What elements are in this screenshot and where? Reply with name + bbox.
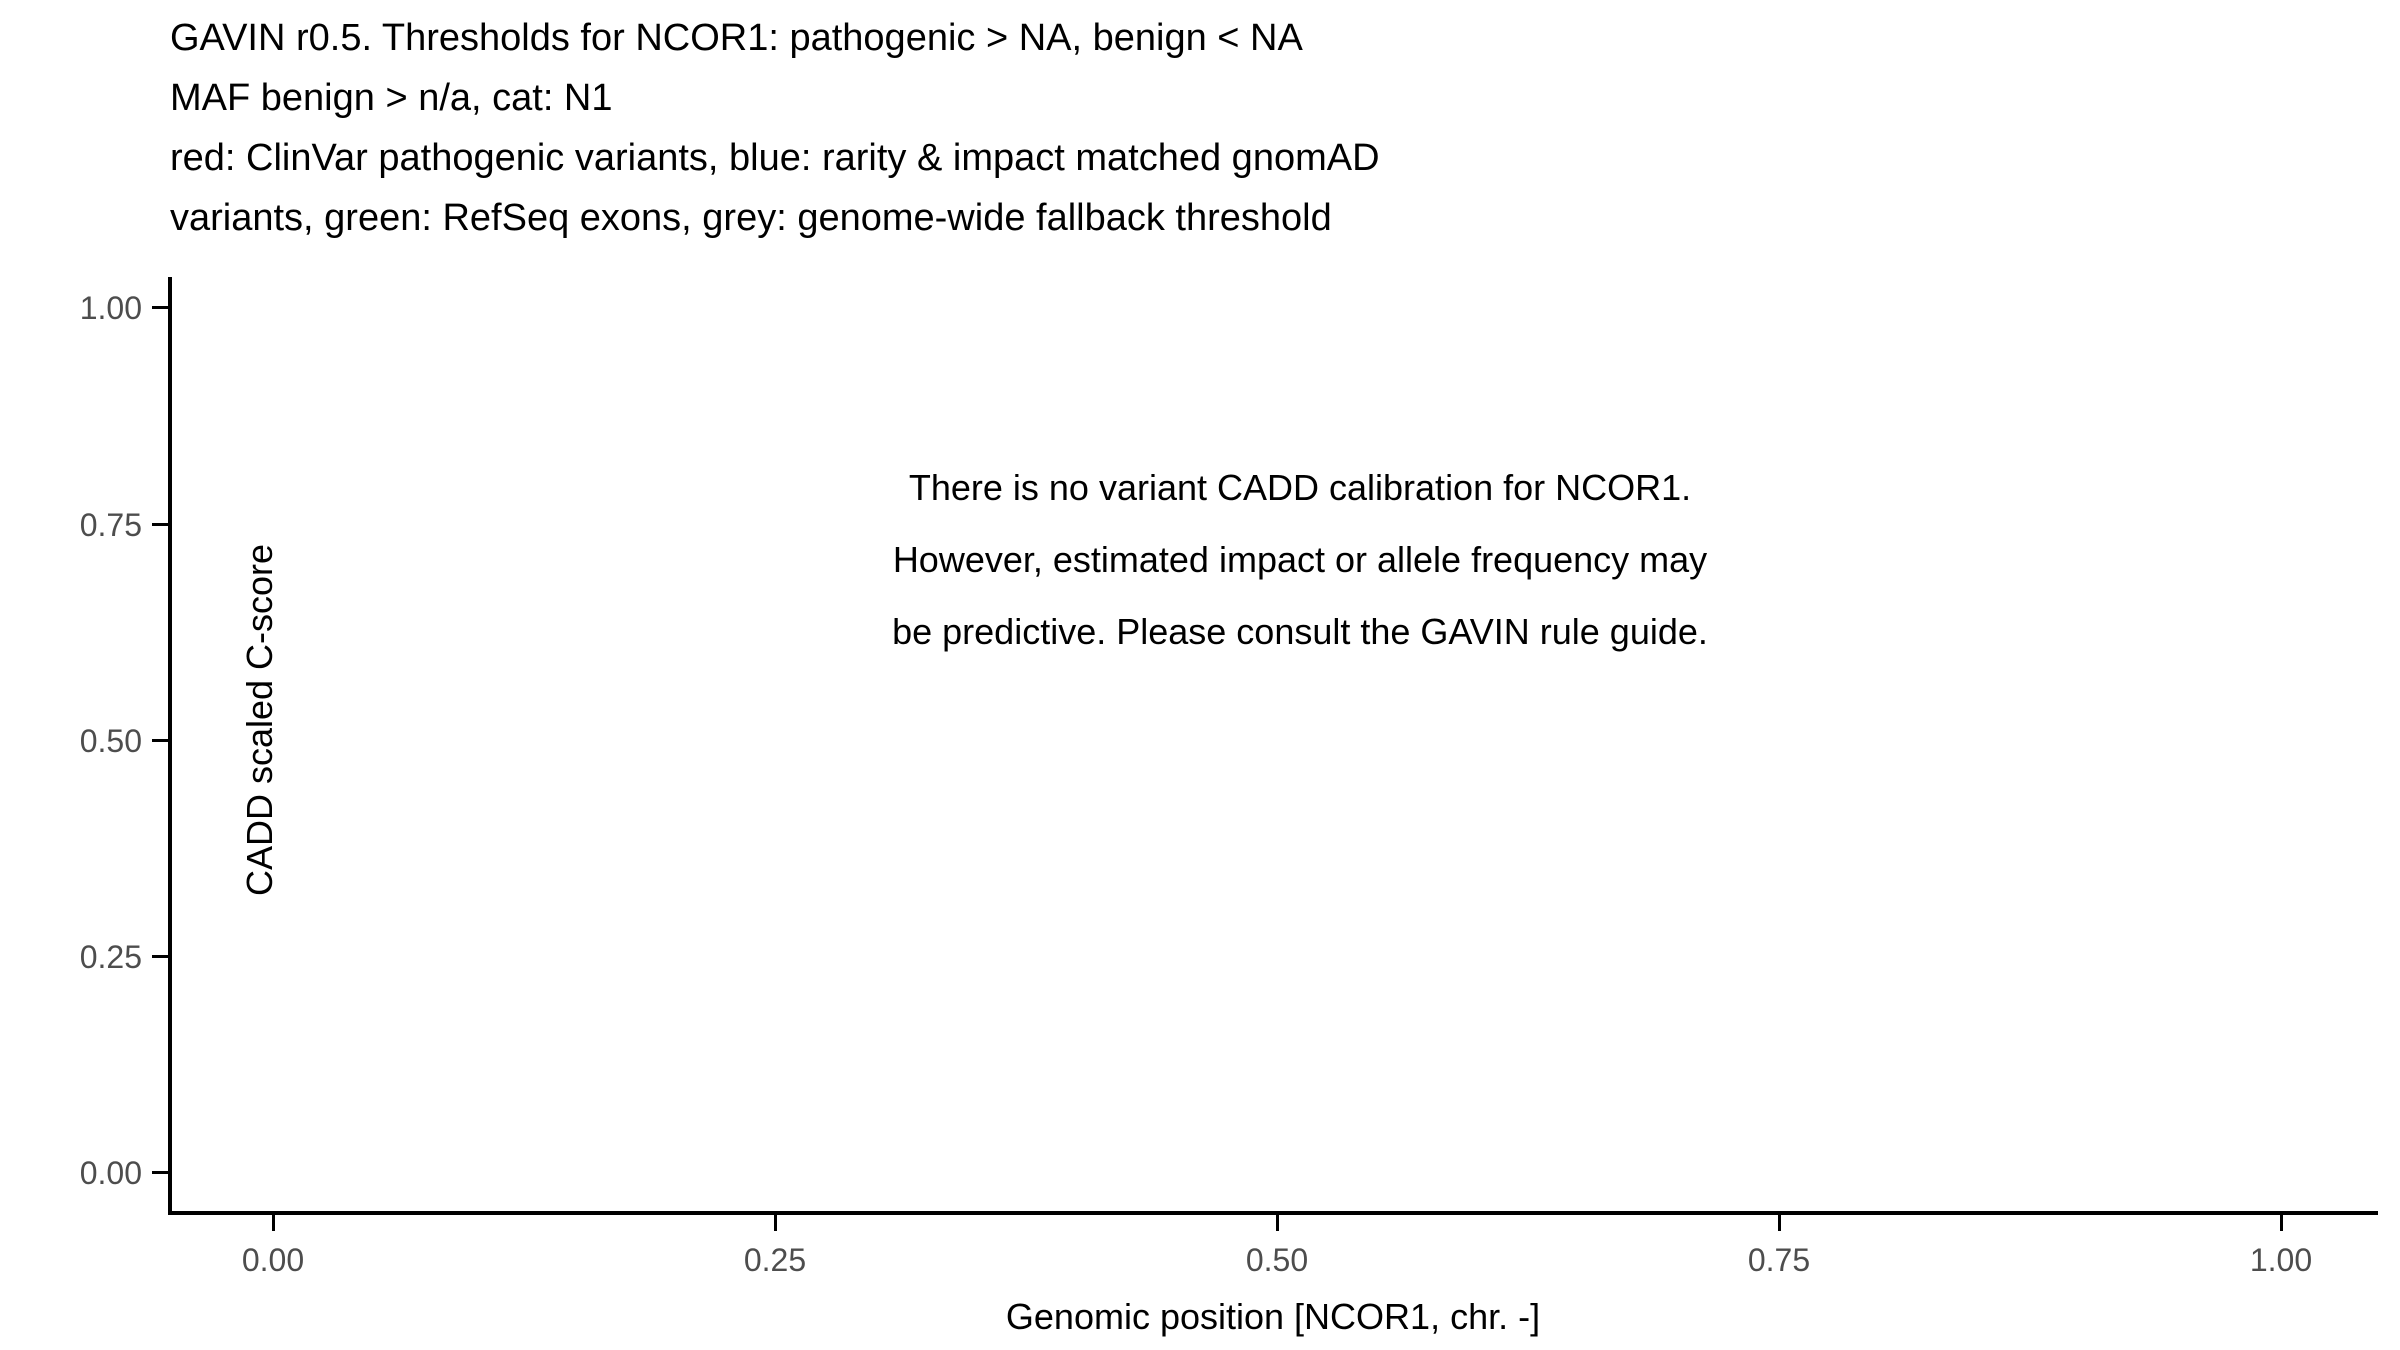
y-axis-line	[168, 277, 172, 1215]
plot-canvas: GAVIN r0.5. Thresholds for NCOR1: pathog…	[0, 0, 2400, 1350]
y-tick-mark-0.50	[152, 739, 169, 742]
y-tick-mark-0.00	[152, 1171, 169, 1174]
x-tick-label-0.75: 0.75	[1659, 1243, 1899, 1277]
plot-title-line-4: variants, green: RefSeq exons, grey: gen…	[170, 188, 2270, 248]
y-tick-mark-1.00	[152, 306, 169, 309]
x-tick-mark-1.00	[2280, 1214, 2283, 1231]
y-axis-title: CADD scaled C-score	[240, 250, 280, 1190]
x-tick-label-1.00: 1.00	[2161, 1243, 2400, 1277]
x-tick-mark-0.00	[272, 1214, 275, 1231]
x-tick-label-0.50: 0.50	[1157, 1243, 1397, 1277]
plot-title: GAVIN r0.5. Thresholds for NCOR1: pathog…	[170, 8, 2270, 248]
plot-panel	[170, 278, 2378, 1213]
y-tick-label-0.50: 0.50	[0, 725, 142, 757]
x-axis-line	[168, 1211, 2378, 1215]
x-tick-mark-0.75	[1778, 1214, 1781, 1231]
plot-title-line-1: GAVIN r0.5. Thresholds for NCOR1: pathog…	[170, 8, 2270, 68]
x-tick-mark-0.25	[774, 1214, 777, 1231]
panel-annotation: There is no variant CADD calibration for…	[300, 452, 2300, 668]
y-tick-label-0.75: 0.75	[0, 509, 142, 541]
y-tick-mark-0.25	[152, 955, 169, 958]
x-tick-label-0.25: 0.25	[655, 1243, 895, 1277]
y-tick-mark-0.75	[152, 523, 169, 526]
x-axis-title: Genomic position [NCOR1, chr. -]	[168, 1297, 2378, 1337]
y-tick-label-0.00: 0.00	[0, 1157, 142, 1189]
y-tick-label-0.25: 0.25	[0, 941, 142, 973]
panel-annotation-line-3: be predictive. Please consult the GAVIN …	[300, 596, 2300, 668]
plot-title-line-2: MAF benign > n/a, cat: N1	[170, 68, 2270, 128]
panel-annotation-line-1: There is no variant CADD calibration for…	[300, 452, 2300, 524]
x-tick-mark-0.50	[1276, 1214, 1279, 1231]
x-tick-label-0.00: 0.00	[153, 1243, 393, 1277]
panel-annotation-line-2: However, estimated impact or allele freq…	[300, 524, 2300, 596]
y-tick-label-1.00: 1.00	[0, 292, 142, 324]
plot-title-line-3: red: ClinVar pathogenic variants, blue: …	[170, 128, 2270, 188]
